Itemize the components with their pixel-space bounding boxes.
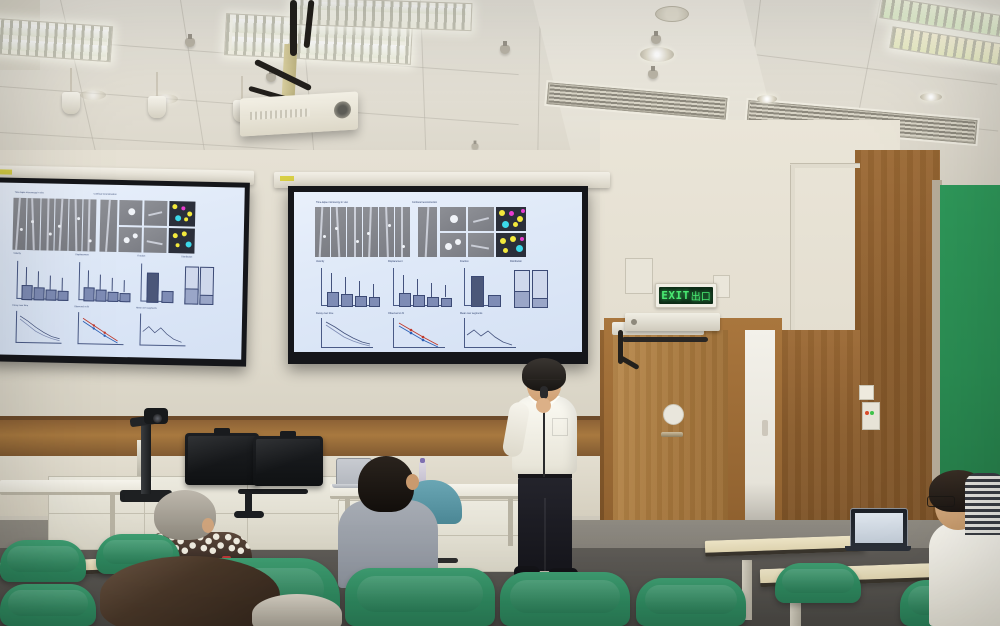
sprinkler-head xyxy=(648,70,658,79)
pendant-light xyxy=(148,72,166,122)
slide-panel-g-title-r: Decay over time xyxy=(316,312,333,315)
front-table-leg xyxy=(110,492,115,538)
recessed-downlight xyxy=(920,93,942,101)
monitor-webcam-icon xyxy=(214,428,230,435)
lecture-seat[interactable] xyxy=(0,584,96,626)
junction-box xyxy=(625,258,653,294)
document-camera-column xyxy=(141,420,151,494)
presenter-trouser-crease xyxy=(544,498,546,571)
document-camera-lens xyxy=(153,414,162,423)
left-screen-surface: Time-lapse microscopy in vivo Confocal r… xyxy=(0,182,245,359)
sprinkler-head xyxy=(651,35,661,44)
slide-panel-c-title: Velocity xyxy=(13,253,21,255)
attendee-striped-torso xyxy=(965,473,1000,535)
left-projection-screen: Time-lapse microscopy in vivo Confocal r… xyxy=(0,177,250,366)
slide-panel-g-title: Decay over time xyxy=(12,305,28,307)
attendee-glasses xyxy=(927,496,955,507)
sprinkler-head xyxy=(500,45,510,54)
monitor-webcam-icon xyxy=(280,431,296,438)
projector-cable xyxy=(290,0,297,56)
right-projection-screen: Time-lapse microscopy in vivo Confocal r… xyxy=(288,186,588,364)
lecture-seat[interactable] xyxy=(775,563,861,603)
presenter xyxy=(500,358,590,583)
ceiling-projector xyxy=(240,91,358,136)
presenter-glasses xyxy=(527,379,561,386)
slide-panel-h-title-r: Observed vs fit xyxy=(388,312,404,315)
led-green xyxy=(870,411,874,415)
attendee-torso xyxy=(929,522,1000,626)
pendant-light xyxy=(62,68,80,118)
lecture-seat[interactable] xyxy=(500,572,630,626)
attendee-hair xyxy=(252,594,342,626)
attendee-laptop-base[interactable] xyxy=(845,546,911,551)
fluorescent-troffer xyxy=(0,18,113,62)
conduit xyxy=(790,163,860,168)
presenter-hand xyxy=(536,398,551,413)
slide-panel-f-title: Distribution xyxy=(181,256,192,258)
slide-panel-c-title-r: Velocity xyxy=(316,260,324,263)
exit-sign: EXIT 出口 xyxy=(655,283,717,308)
slide-content-right: Time-lapse microscopy in vivo Confocal r… xyxy=(294,192,582,352)
door-handle[interactable] xyxy=(661,432,683,437)
door-closer-arm xyxy=(622,337,708,342)
green-chalkboard xyxy=(940,185,1000,485)
av-amplifier xyxy=(625,313,720,331)
lecture-hall-photo: EXIT 出口 Time-lapse microscopy in vivo Co… xyxy=(0,0,1000,626)
door-notice-sign xyxy=(663,404,684,425)
presenter-shirt-pocket xyxy=(552,418,568,436)
lecture-seat[interactable] xyxy=(345,568,495,626)
attendee-striped xyxy=(965,455,1000,535)
slide-panel-a-title: Time-lapse microscopy in vivo xyxy=(15,192,44,195)
attendee-grey-shirt xyxy=(330,452,440,582)
door-opening xyxy=(745,330,775,548)
slide-content-left: Time-lapse microscopy in vivo Confocal r… xyxy=(0,182,245,359)
slide-panel-f-title-r: Distribution xyxy=(510,260,522,263)
attendee-grey-hair-fg xyxy=(252,594,342,626)
slide-panel-h-title: Observed vs fit xyxy=(74,306,89,308)
recessed-downlight xyxy=(80,90,106,100)
sprinkler-head xyxy=(185,38,195,47)
exit-sign-text-chinese: 出口 xyxy=(691,288,711,303)
projector-lens xyxy=(334,101,351,119)
led-red xyxy=(865,411,869,415)
slide-panel-d-title: Displacement xyxy=(75,254,88,256)
slide-panel-b-title: Confocal reconstruction xyxy=(94,193,117,195)
lectern-monitor-left[interactable] xyxy=(185,433,259,485)
slide-panel-e-title: Fraction xyxy=(137,255,145,257)
attendee-laptop-screen[interactable] xyxy=(850,508,908,548)
recessed-downlight xyxy=(757,95,777,103)
slide-panel-i-title-r: Mean over segments xyxy=(460,312,482,315)
slide-panel-b-title-r: Confocal reconstruction xyxy=(412,201,437,204)
lecture-seat[interactable] xyxy=(0,540,86,582)
ceiling-speaker xyxy=(655,6,689,22)
wall-socket xyxy=(859,385,874,400)
exit-sign-text: EXIT xyxy=(661,290,690,301)
attendee-ear xyxy=(202,518,214,533)
recessed-downlight xyxy=(640,47,674,62)
door-handle-inner[interactable] xyxy=(762,420,768,436)
sprinkler-head xyxy=(472,143,479,149)
lecture-seat[interactable] xyxy=(636,578,746,626)
right-screen-surface: Time-lapse microscopy in vivo Confocal r… xyxy=(294,192,582,352)
slide-panel-e-title-r: Fraction xyxy=(460,260,469,263)
attendee-ear xyxy=(406,474,419,490)
attendee-laptop-display xyxy=(855,513,903,543)
slide-panel-a-title-r: Time-lapse microscopy in vivo xyxy=(316,201,348,204)
lectern-monitor-right[interactable] xyxy=(253,436,323,486)
wall-control-panel[interactable] xyxy=(862,402,880,430)
slide-panel-d-title-r: Displacement xyxy=(388,260,402,263)
slide-panel-i-title: Mean over segments xyxy=(136,307,156,309)
